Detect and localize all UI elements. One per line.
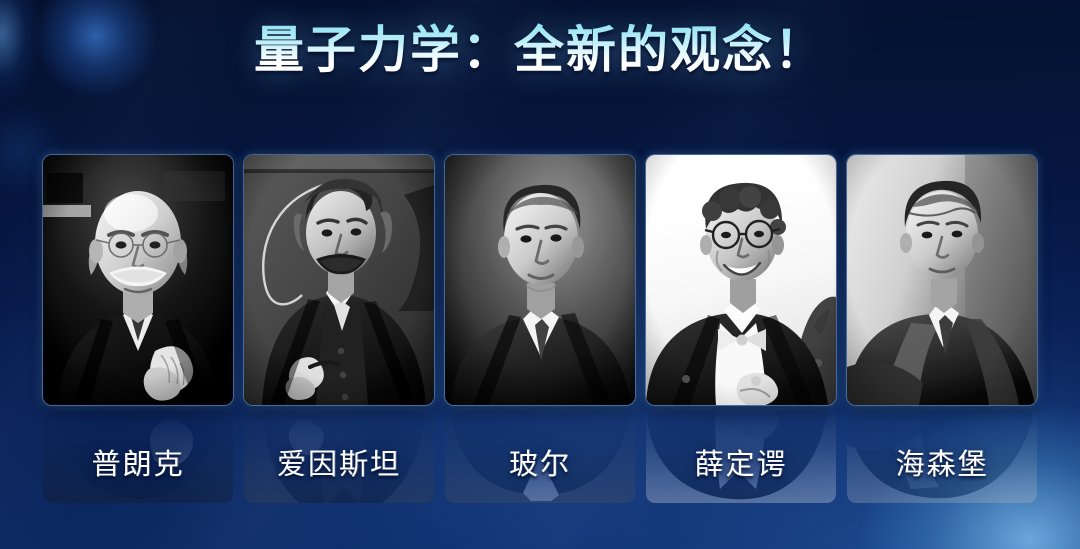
title-area: 量子力学：全新的观念！: [0, 22, 1080, 80]
planck-portrait: [43, 155, 233, 405]
scientist-name-4: 海森堡: [829, 441, 1055, 483]
heisenberg-portrait: [847, 155, 1037, 405]
scientist-card-4[interactable]: 海森堡: [847, 155, 1037, 405]
einstein-portrait: [244, 155, 434, 405]
portrait-frame-2[interactable]: [445, 155, 635, 405]
portrait-frame-1[interactable]: [244, 155, 434, 405]
scientist-name-3: 薛定谔: [628, 441, 854, 483]
bohr-portrait: [445, 155, 635, 405]
page-title: 量子力学：全新的观念！: [254, 22, 826, 80]
scientist-name-1: 爱因斯坦: [226, 441, 452, 483]
scientist-card-0[interactable]: 普朗克: [43, 155, 233, 405]
presentation-slide: 量子力学：全新的观念！: [0, 0, 1080, 549]
scientist-name-0: 普朗克: [25, 441, 251, 483]
scientist-card-2[interactable]: 玻尔: [445, 155, 635, 405]
schrodinger-portrait: [646, 155, 836, 405]
portrait-frame-4[interactable]: [847, 155, 1037, 405]
scientist-card-3[interactable]: 薛定谔: [646, 155, 836, 405]
portrait-frame-3[interactable]: [646, 155, 836, 405]
scientists-row: 普朗克: [43, 155, 1037, 405]
portrait-frame-0[interactable]: [43, 155, 233, 405]
scientist-name-2: 玻尔: [427, 441, 653, 483]
scientist-card-1[interactable]: 爱因斯坦: [244, 155, 434, 405]
